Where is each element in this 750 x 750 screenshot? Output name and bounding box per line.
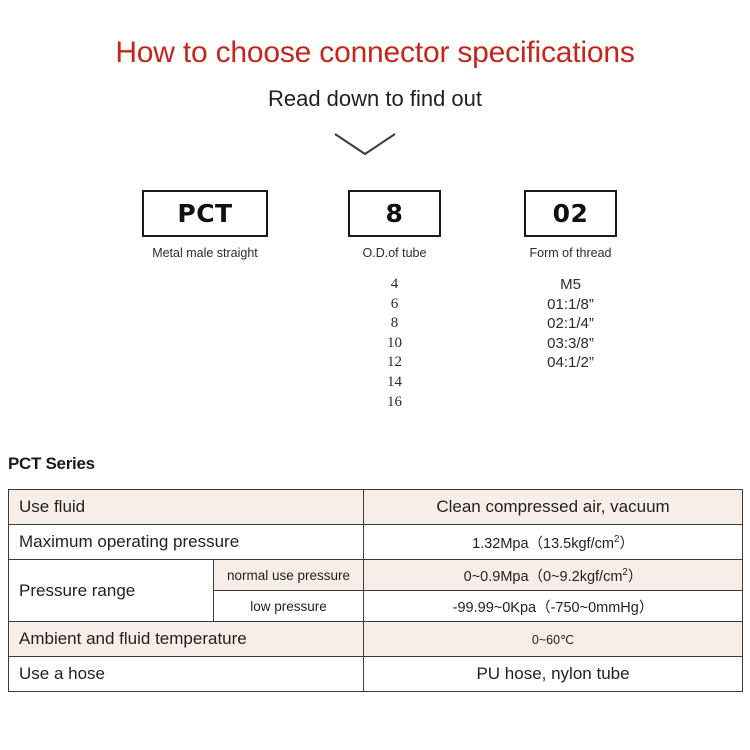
table-row: Use fluid Clean compressed air, vacuum bbox=[9, 490, 743, 525]
code-segment-box-thread-form: 02 bbox=[524, 190, 617, 237]
list-item: 6 bbox=[348, 295, 441, 315]
code-segment-text: 8 bbox=[386, 199, 404, 228]
list-item: 14 bbox=[348, 373, 441, 393]
code-caption-tube-od: O.D.of tube bbox=[348, 246, 441, 260]
spec-value: 0~0.9Mpa（0~9.2kgf/cm2） bbox=[364, 560, 743, 591]
list-item: 4 bbox=[348, 275, 441, 295]
code-segment-text: 02 bbox=[553, 199, 589, 228]
code-segment-text: PCT bbox=[177, 199, 232, 228]
spec-label: Use a hose bbox=[9, 657, 364, 692]
spec-value: 1.32Mpa（13.5kgf/cm2） bbox=[364, 525, 743, 560]
spec-value-suffix: ） bbox=[619, 536, 634, 552]
spec-value: PU hose, nylon tube bbox=[364, 657, 743, 692]
code-caption-series: Metal male straight bbox=[142, 246, 268, 260]
page-subtitle: Read down to find out bbox=[0, 86, 750, 112]
code-caption-thread-form: Form of thread bbox=[524, 246, 617, 260]
spec-table: Use fluid Clean compressed air, vacuum M… bbox=[8, 489, 743, 692]
spec-value-suffix: ） bbox=[628, 569, 643, 585]
spec-value-prefix: 0~0.9Mpa（0~9.2kgf/cm bbox=[464, 569, 623, 585]
code-segment-box-tube-od: 8 bbox=[348, 190, 441, 237]
table-row: Maximum operating pressure 1.32Mpa（13.5k… bbox=[9, 525, 743, 560]
code-segment-box-series: PCT bbox=[142, 190, 268, 237]
list-item: 12 bbox=[348, 353, 441, 373]
spec-value-prefix: 1.32Mpa（13.5kgf/cm bbox=[472, 536, 614, 552]
table-row: Pressure range normal use pressure 0~0.9… bbox=[9, 560, 743, 591]
spec-value: -99.99~0Kpa（-750~0mmHg） bbox=[364, 591, 743, 622]
spec-label: Use fluid bbox=[9, 490, 364, 525]
spec-value: 0~60℃ bbox=[364, 622, 743, 657]
spec-label-pressure-range: Pressure range bbox=[9, 560, 214, 622]
list-item: 8 bbox=[348, 314, 441, 334]
list-item: M5 bbox=[500, 275, 641, 295]
page-title: How to choose connector specifications bbox=[0, 36, 750, 70]
spec-table-heading: PCT Series bbox=[8, 454, 95, 474]
list-item: 16 bbox=[348, 393, 441, 413]
tube-od-option-list: 4 6 8 10 12 14 16 bbox=[348, 275, 441, 412]
thread-form-option-list: M5 01:1/8” 02:1/4” 03:3/8” 04:1/2” bbox=[500, 275, 641, 373]
table-row: Ambient and fluid temperature 0~60℃ bbox=[9, 622, 743, 657]
spec-label: Ambient and fluid temperature bbox=[9, 622, 364, 657]
spec-value: Clean compressed air, vacuum bbox=[364, 490, 743, 525]
list-item: 10 bbox=[348, 334, 441, 354]
list-item: 03:3/8” bbox=[500, 334, 641, 354]
spec-label: Maximum operating pressure bbox=[9, 525, 364, 560]
table-row: Use a hose PU hose, nylon tube bbox=[9, 657, 743, 692]
list-item: 01:1/8” bbox=[500, 295, 641, 315]
list-item: 04:1/2” bbox=[500, 353, 641, 373]
spec-sublabel: low pressure bbox=[214, 591, 364, 622]
chevron-down-icon bbox=[333, 131, 397, 157]
spec-sublabel: normal use pressure bbox=[214, 560, 364, 591]
list-item: 02:1/4” bbox=[500, 314, 641, 334]
